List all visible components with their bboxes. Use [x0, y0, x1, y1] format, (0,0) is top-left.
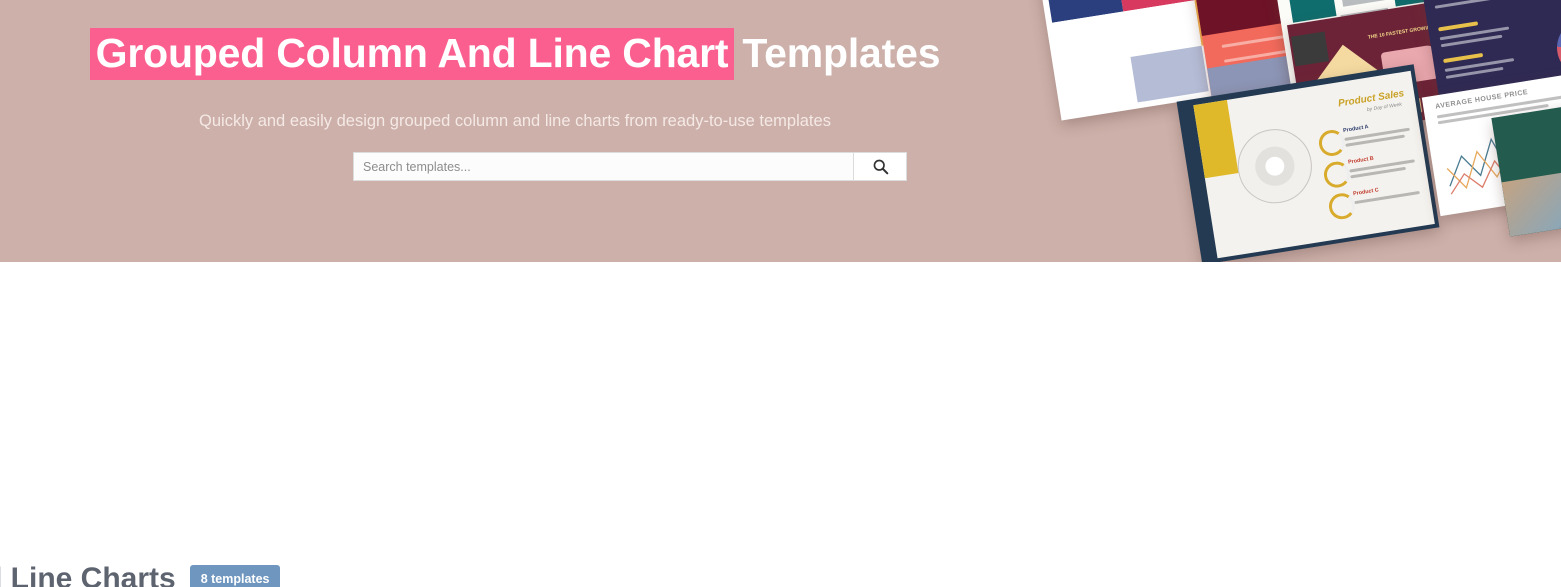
search-icon	[872, 158, 889, 175]
page-title: Grouped Column And Line ChartTemplates	[0, 30, 1030, 77]
hero-content: Grouped Column And Line ChartTemplates Q…	[0, 0, 1030, 262]
collage-product-item-b: Product B	[1348, 156, 1374, 166]
page-subtitle: Quickly and easily design grouped column…	[0, 112, 1030, 131]
template-count-badge: 8 templates	[190, 565, 281, 587]
search-bar	[353, 152, 907, 181]
page-root: THE 10 FASTEST GROWING CITIES IN US TEXA…	[0, 0, 1561, 587]
page-title-rest: Templates	[734, 30, 940, 76]
search-input[interactable]	[353, 152, 853, 181]
collage-product-item-a: Product A	[1343, 124, 1369, 134]
template-collage: THE 10 FASTEST GROWING CITIES IN US TEXA…	[1030, 0, 1561, 262]
page-title-highlight: Grouped Column And Line Chart	[90, 28, 735, 80]
section-title: l Line Charts	[0, 562, 176, 587]
search-button[interactable]	[853, 152, 907, 181]
collage-card-green	[1491, 99, 1561, 236]
collage-product-item-c: Product C	[1353, 187, 1379, 197]
section-header: l Line Charts 8 templates	[0, 562, 280, 587]
hero-banner: THE 10 FASTEST GROWING CITIES IN US TEXA…	[0, 0, 1561, 262]
